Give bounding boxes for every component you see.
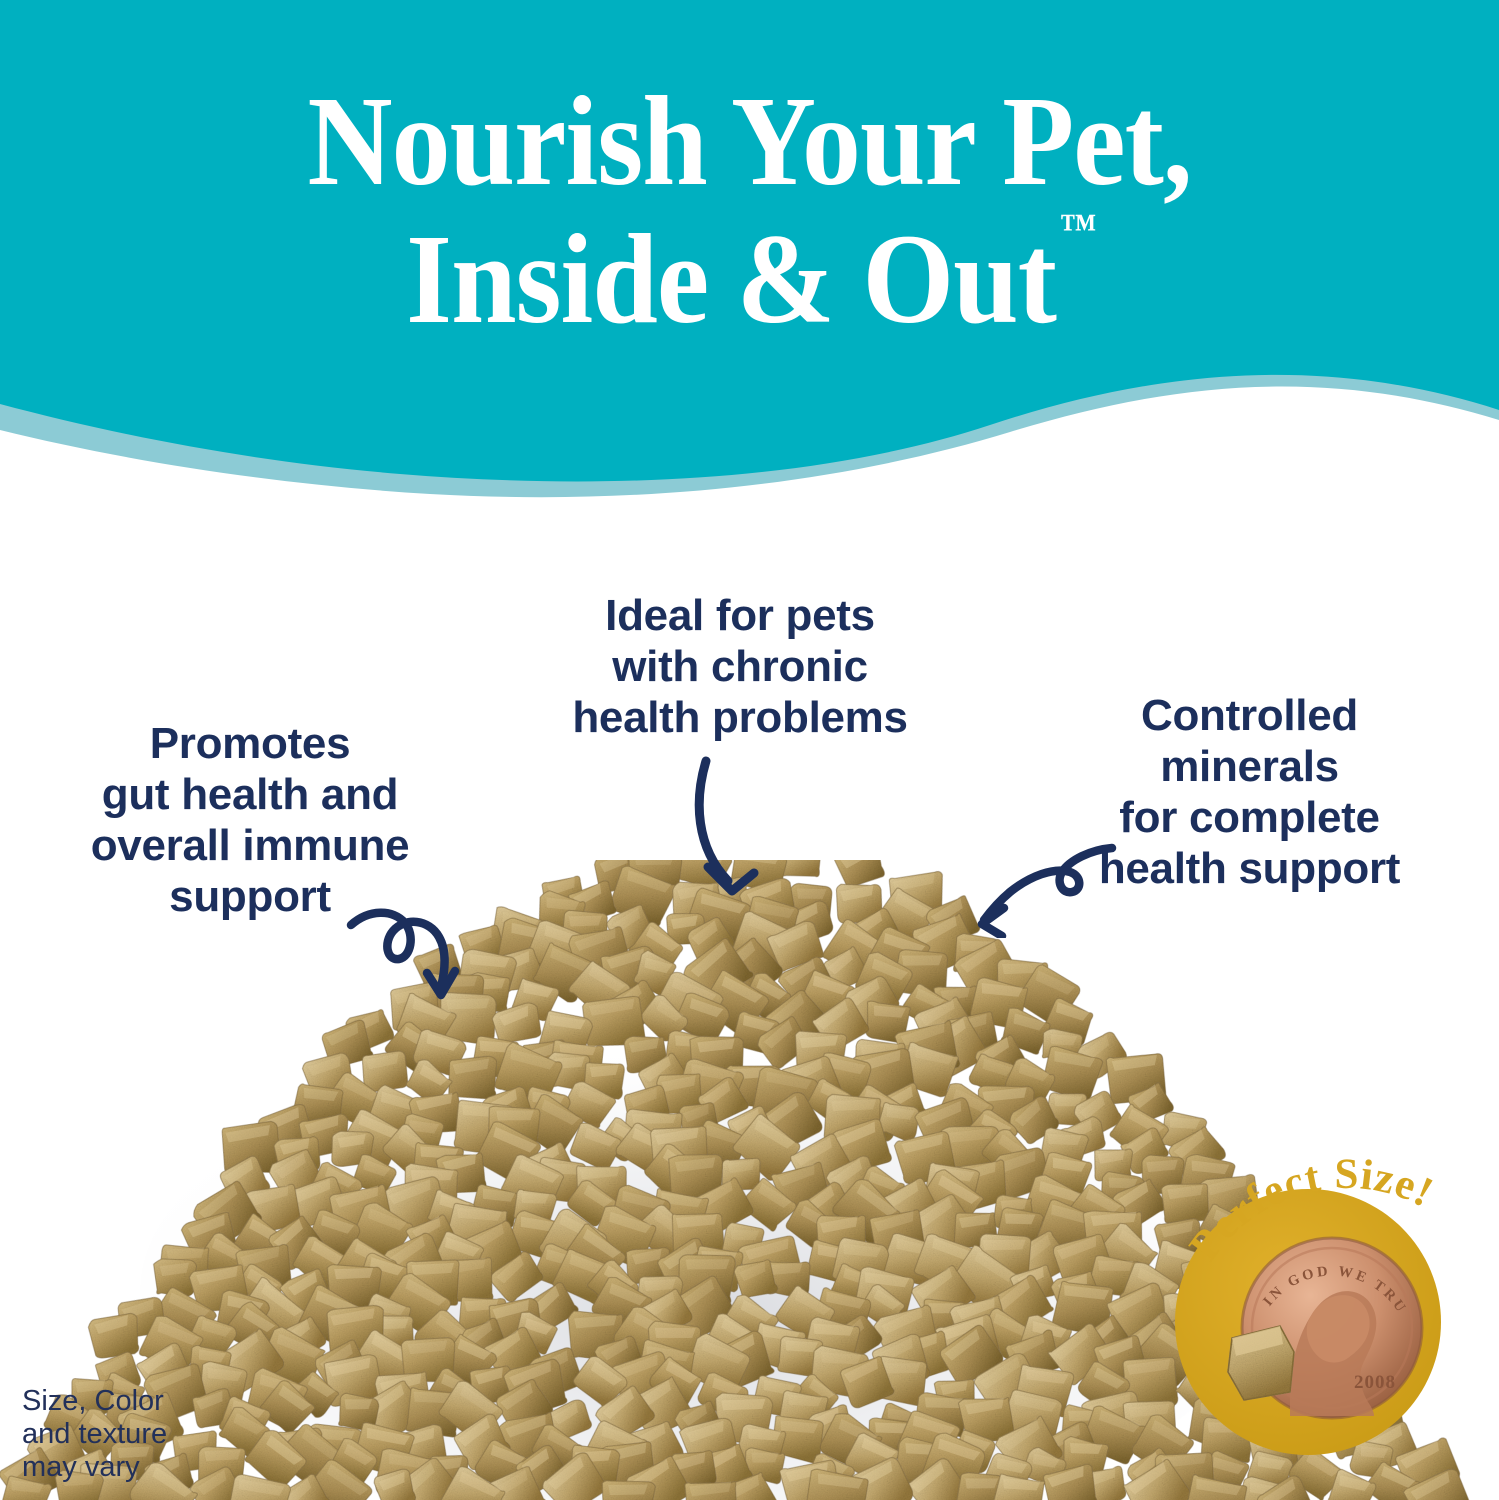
callout-line: minerals (1000, 741, 1499, 792)
disclaimer-text: Size, Color and texture may vary (22, 1385, 252, 1483)
callout-line: health problems (480, 692, 1000, 743)
coin-year-text: 2008 (1354, 1372, 1396, 1393)
page-title: Nourish Your Pet, Inside & Out™ (60, 72, 1439, 348)
disclaimer-line: Size, Color (22, 1385, 252, 1418)
callout-ideal-for-chronic: Ideal for pets with chronic health probl… (480, 590, 1000, 743)
loop-arrow-left-icon (970, 838, 1120, 938)
callout-line: Promotes (0, 718, 500, 769)
disclaimer-line: and texture (22, 1418, 252, 1451)
headline-line-2-text: Inside & Out (406, 208, 1056, 350)
curved-arrow-down-icon (688, 755, 798, 915)
callout-line: with chronic (480, 641, 1000, 692)
callout-line: Controlled (1000, 690, 1499, 741)
trademark-symbol: ™ (1060, 205, 1097, 250)
headline-line-2: Inside & Out™ (406, 210, 1093, 348)
perfect-size-badge: IN GOD WE TRUST 2008 Perfect Size! (1140, 1100, 1499, 1470)
callout-line: gut health and (0, 769, 500, 820)
callout-line: for complete (1000, 792, 1499, 843)
header-banner: Nourish Your Pet, Inside & Out™ (0, 0, 1499, 500)
disclaimer-line: may vary (22, 1451, 252, 1484)
loop-arrow-down-icon (345, 895, 475, 1015)
product-infographic: Nourish Your Pet, Inside & Out™ (0, 0, 1499, 1500)
headline-line-1: Nourish Your Pet, (308, 70, 1192, 212)
callout-line: Ideal for pets (480, 590, 1000, 641)
badge-kibble-sample (1228, 1326, 1294, 1400)
